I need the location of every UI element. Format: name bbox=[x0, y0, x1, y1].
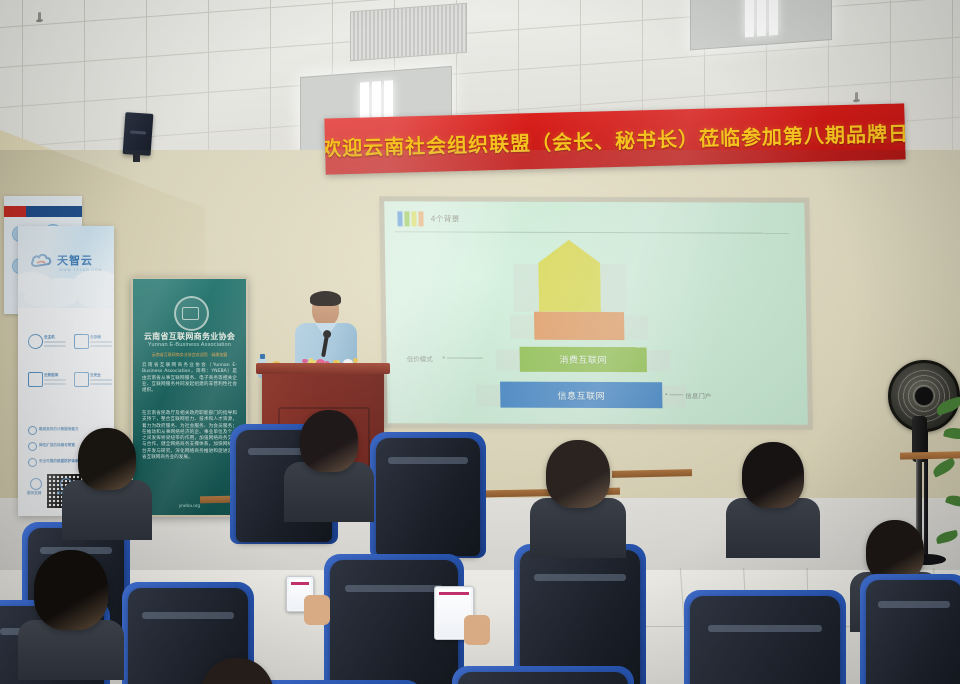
light-tube bbox=[769, 0, 778, 36]
ceiling-tile bbox=[890, 37, 953, 83]
audience-chair bbox=[866, 580, 960, 684]
ceiling-tile bbox=[890, 0, 953, 43]
ceiling-tile bbox=[518, 64, 581, 110]
light-tube bbox=[757, 0, 766, 37]
ceiling-tile bbox=[766, 46, 829, 92]
ceiling-tile bbox=[828, 2, 891, 48]
chair-back bbox=[458, 672, 628, 684]
audience-head bbox=[546, 440, 610, 508]
ceiling-tile bbox=[208, 7, 271, 53]
ceiling-tile bbox=[642, 55, 705, 101]
audience-head bbox=[78, 428, 136, 490]
audience-head bbox=[866, 520, 924, 582]
ceiling-tile bbox=[704, 51, 767, 97]
wall-baseboard bbox=[900, 451, 960, 459]
ceiling-tile bbox=[22, 61, 85, 107]
audience-chair bbox=[458, 672, 628, 684]
ceiling-tile bbox=[146, 92, 209, 138]
hand bbox=[304, 595, 330, 625]
audience-chair bbox=[376, 438, 480, 556]
sprinkler-head bbox=[855, 92, 858, 101]
ceiling-tile bbox=[952, 33, 960, 79]
ceiling-tile bbox=[0, 25, 23, 71]
ceiling-tile bbox=[0, 65, 23, 111]
ceiling-tile bbox=[146, 12, 209, 58]
chair-bar bbox=[388, 457, 467, 464]
chair-back bbox=[866, 580, 960, 684]
audience-head bbox=[300, 410, 358, 472]
ceiling-vent bbox=[350, 3, 467, 62]
chair-bar bbox=[878, 601, 951, 608]
chair-bar bbox=[345, 585, 442, 592]
ceiling-tile bbox=[208, 87, 271, 133]
audience-head bbox=[742, 442, 804, 508]
ceiling-tile bbox=[270, 3, 333, 49]
ceiling-tile bbox=[580, 60, 643, 106]
ceiling-tile bbox=[828, 42, 891, 88]
chair-back bbox=[520, 550, 640, 684]
ceiling-tile bbox=[456, 69, 519, 115]
ceiling-tile bbox=[208, 47, 271, 93]
ceiling-tile bbox=[22, 21, 85, 67]
chair-back bbox=[376, 438, 480, 556]
chair-bar bbox=[708, 625, 822, 632]
ceiling-tile bbox=[952, 0, 960, 38]
sprinkler-head bbox=[38, 12, 41, 21]
light-tube bbox=[745, 0, 754, 37]
device-app-bar bbox=[291, 582, 309, 585]
ceiling-tile bbox=[952, 73, 960, 119]
ceiling-tile bbox=[84, 16, 147, 62]
ceiling-tile bbox=[518, 24, 581, 70]
conference-room-photo: 热烈欢迎云南社会组织联盟（会长、秘书长）莅临参加第八期品牌日活动 4个背景 消费… bbox=[0, 0, 960, 684]
ceiling-tile bbox=[146, 52, 209, 98]
chair-bar bbox=[142, 612, 233, 619]
audience-chair bbox=[520, 550, 640, 684]
device-app-bar bbox=[439, 592, 469, 595]
hand bbox=[464, 615, 490, 645]
audience-head bbox=[34, 550, 108, 630]
ceiling-tile bbox=[22, 101, 85, 147]
ceiling-tile bbox=[84, 56, 147, 102]
ceiling-tile bbox=[580, 20, 643, 66]
chair-back bbox=[690, 596, 840, 684]
audience-chair bbox=[690, 596, 840, 684]
chair-bar bbox=[534, 574, 625, 581]
